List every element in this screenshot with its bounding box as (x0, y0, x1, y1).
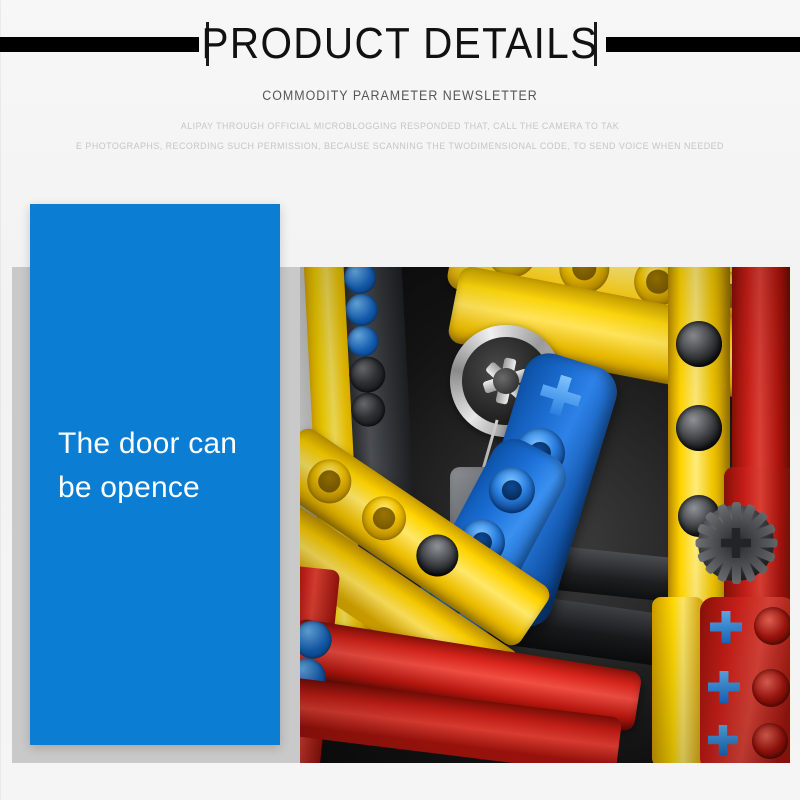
product-photo (300, 267, 790, 763)
part-red-panel-studded (700, 597, 790, 763)
part-cross-hole (710, 611, 742, 643)
part-beam-hole (752, 723, 788, 759)
part-axle-hole (676, 321, 722, 367)
fineprint-line-1: ALIPAY THROUGH OFFICIAL MICROBLOGGING RE… (20, 120, 780, 131)
part-beam-hole (353, 488, 414, 549)
callout-box: The door can be opence (30, 204, 280, 745)
part-beam-hole (752, 669, 790, 707)
page-background: PRODUCT DETAILS COMMODITY PARAMETER NEWS… (0, 0, 800, 800)
part-dark-grey-gear (698, 505, 774, 581)
page-title: PRODUCT DETAILS (32, 18, 768, 70)
page-header: PRODUCT DETAILS COMMODITY PARAMETER NEWS… (0, 0, 800, 165)
part-axle-hole (350, 392, 386, 428)
part-beam-hole (300, 451, 360, 512)
part-blue-pin (345, 293, 379, 327)
part-blue-pin (347, 325, 380, 358)
callout-text: The door can be opence (58, 422, 268, 510)
part-blue-pin (343, 267, 377, 295)
part-axle-hole (348, 356, 386, 394)
fineprint-line-2: E PHOTOGRAPHS, RECORDING SUCH PERMISSION… (20, 140, 780, 151)
part-axle-hole (408, 526, 466, 584)
part-beam-hole (481, 459, 543, 521)
part-blue-pin (300, 618, 334, 661)
part-cross-hole (708, 725, 738, 755)
part-axle-hole (676, 405, 722, 451)
part-beam-hole (754, 607, 790, 645)
part-yellow-beam-right-lower (652, 597, 704, 763)
part-cross-hole (708, 671, 740, 703)
part-cross-hole (536, 371, 586, 421)
page-subtitle: COMMODITY PARAMETER NEWSLETTER (32, 88, 768, 103)
